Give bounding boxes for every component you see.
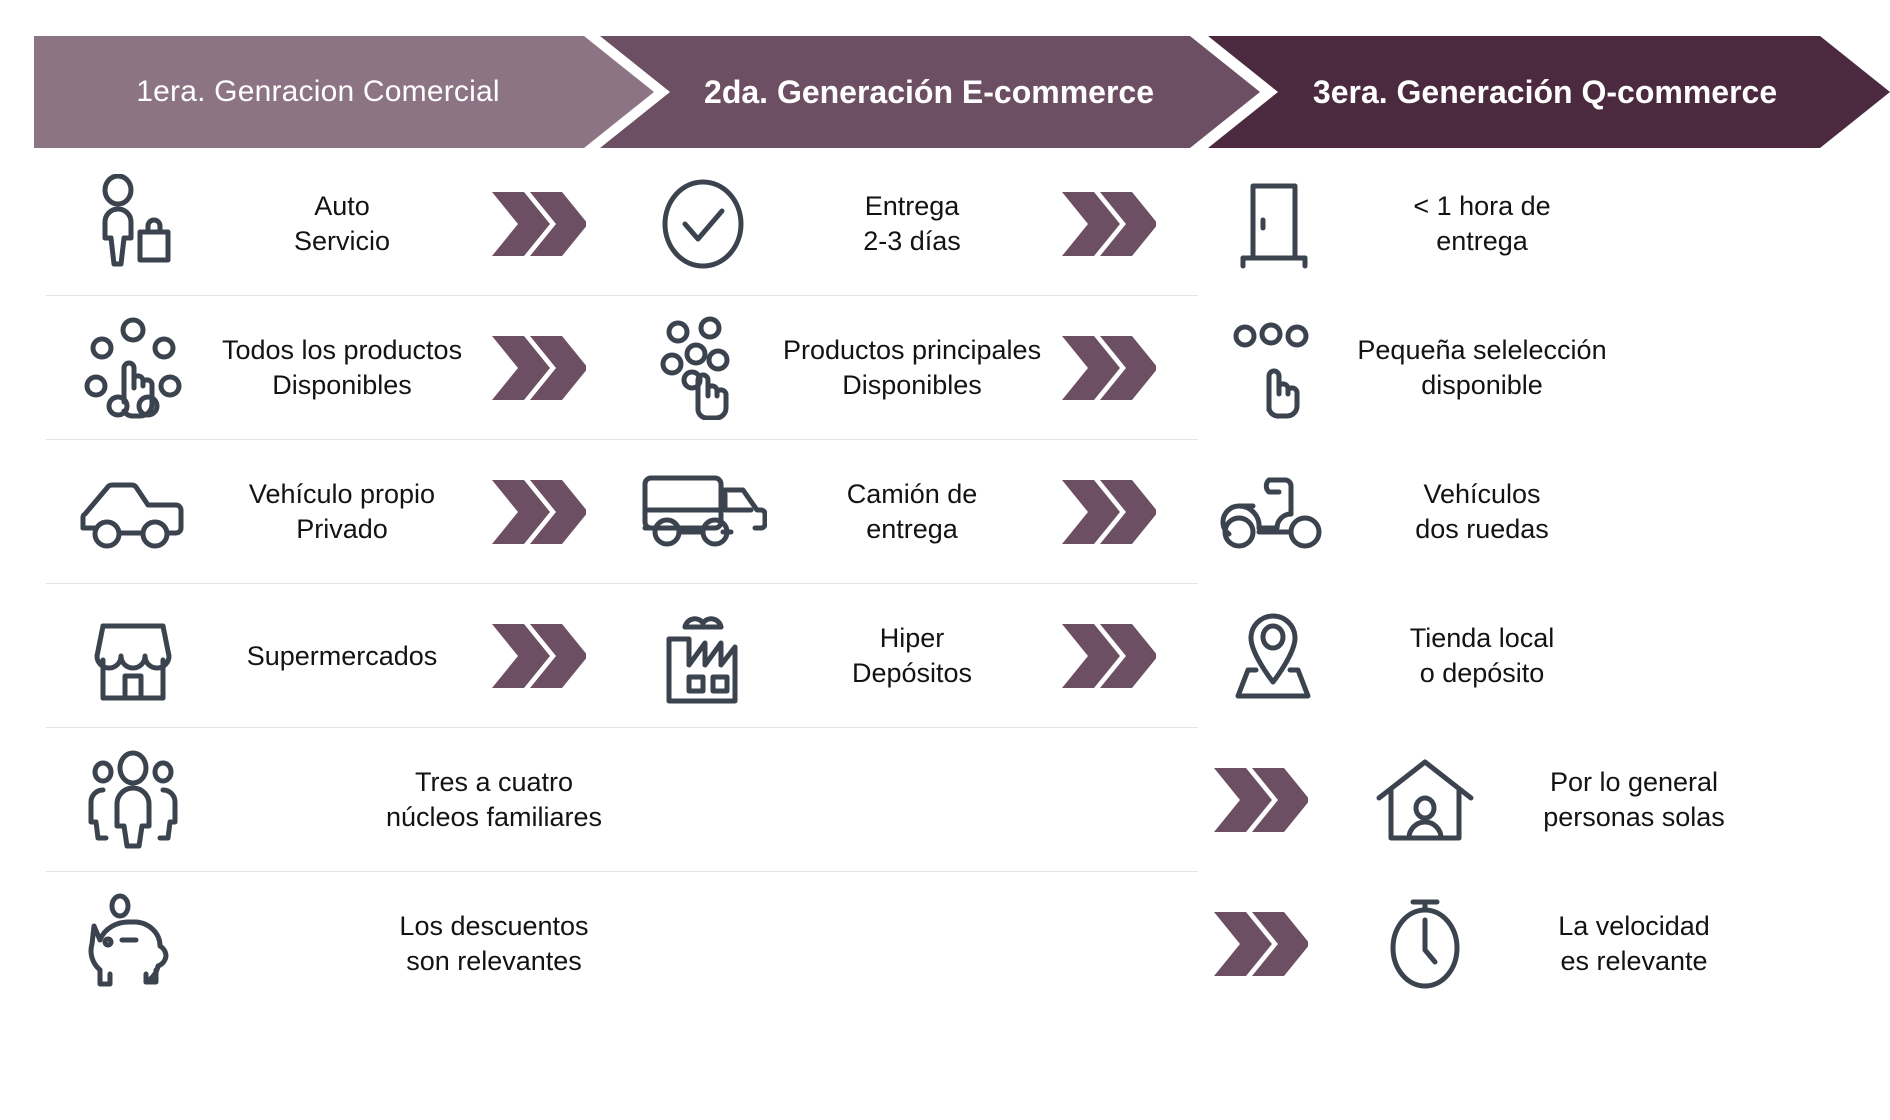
person-shopping-bag-icon [44,152,222,296]
double-chevron-icon [1032,440,1184,584]
generation-headers: 1era. Genracion Comercial 2da. Generació… [0,36,1890,148]
row-label-gen1: Los descuentos son relevantes [222,872,766,1016]
row-label-gen2: Camión de entrega [792,440,1032,584]
row-label-gen1: Todos los productos Disponibles [222,296,462,440]
header-banner-generation-1: 1era. Genracion Comercial [34,36,654,148]
storefront-icon [44,584,222,728]
row-label-gen3-line1: La velocidad [1558,909,1710,944]
row-label-gen2-line2: entrega [847,512,978,547]
table-row: Auto Servicio Entrega 2-3 días [0,152,1890,296]
double-chevron-icon [1184,728,1336,872]
row-label-gen1-line1: Vehículo propio [249,477,435,512]
row-label-gen1: Supermercados [222,584,462,728]
row-label-gen3: Tienda local o depósito [1362,584,1602,728]
double-chevron-icon [1032,296,1184,440]
row-label-gen2-line1: Entrega [863,189,961,224]
three-people-icon [44,728,222,872]
table-row: Vehículo propio Privado [0,440,1890,584]
row-label-gen1-line1: Supermercados [247,639,438,674]
row-label-gen1-line1: Todos los productos [222,333,462,368]
car-icon [44,440,222,584]
double-chevron-icon [462,296,614,440]
row-label-gen2-line2: Depósitos [852,656,972,691]
row-label-gen3-line2: disponible [1357,368,1606,403]
house-person-icon [1336,728,1514,872]
row-label-gen3-line2: o depósito [1410,656,1555,691]
row-label-gen3: Vehículos dos ruedas [1362,440,1602,584]
row-label-gen3-line1: Pequeña selelección [1357,333,1606,368]
check-circle-icon [614,152,792,296]
hand-pointer-bubbles-small-icon [614,296,792,440]
row-label-gen3-line1: < 1 hora de [1413,189,1550,224]
row-label-gen3-line1: Vehículos [1415,477,1549,512]
header-banner-generation-2: 2da. Generación E-commerce [600,36,1260,148]
row-label-gen3: La velocidad es relevante [1514,872,1754,1016]
row-label-gen2-line1: Productos principales [783,333,1041,368]
row-label-gen1-line1: Tres a cuatro [386,765,602,800]
comparison-grid: Auto Servicio Entrega 2-3 días [0,152,1890,1016]
row-label-gen2: Entrega 2-3 días [792,152,1032,296]
row-label-gen2: Hiper Depósitos [792,584,1032,728]
row-label-gen3-line1: Por lo general [1543,765,1725,800]
hand-pointer-three-bubbles-icon [1184,296,1362,440]
table-row: Todos los productos Disponibles [0,296,1890,440]
row-label-gen3-line2: dos ruedas [1415,512,1549,547]
table-row: Tres a cuatro núcleos familiares [0,728,1890,872]
double-chevron-icon [1184,872,1336,1016]
row-label-gen3: < 1 hora de entrega [1362,152,1602,296]
row-label-gen3: Pequeña selelección disponible [1362,296,1602,440]
infographic-page: 1era. Genracion Comercial 2da. Generació… [0,0,1890,1120]
map-pin-icon [1184,584,1362,728]
row-label-gen1-line2: Privado [249,512,435,547]
header-banner-generation-3: 3era. Generación Q-commerce [1208,36,1890,148]
row-label-gen3-line2: entrega [1413,224,1550,259]
row-label-gen1: Tres a cuatro núcleos familiares [222,728,766,872]
hand-pointer-bubbles-icon [44,296,222,440]
row-label-gen2-line2: Disponibles [783,368,1041,403]
row-label-gen3-line2: es relevante [1558,944,1710,979]
factory-icon [614,584,792,728]
header-banner-label-3: 3era. Generación Q-commerce [1273,76,1825,108]
double-chevron-icon [462,152,614,296]
double-chevron-icon [462,584,614,728]
row-label-gen1-line2: son relevantes [399,944,588,979]
table-row: Los descuentos son relevantes [0,872,1890,1016]
row-label-gen1-line1: Los descuentos [399,909,588,944]
row-label-gen1-line1: Auto [294,189,390,224]
row-label-gen1-line2: Disponibles [222,368,462,403]
table-row: Supermercados Hip [0,584,1890,728]
row-label-gen3-line2: personas solas [1543,800,1725,835]
row-label-gen2-line1: Camión de [847,477,978,512]
header-banner-label-1: 1era. Genracion Comercial [136,77,552,107]
stopwatch-icon [1336,872,1514,1016]
row-label-gen1-line2: Servicio [294,224,390,259]
double-chevron-icon [462,440,614,584]
double-chevron-icon [1032,152,1184,296]
double-chevron-icon [1032,584,1184,728]
row-label-gen3: Por lo general personas solas [1514,728,1754,872]
row-label-gen3-line1: Tienda local [1410,621,1555,656]
row-label-gen2-line2: 2-3 días [863,224,961,259]
scooter-icon [1184,440,1362,584]
row-label-gen2: Productos principales Disponibles [792,296,1032,440]
piggy-bank-icon [44,872,222,1016]
row-label-gen2-line1: Hiper [852,621,972,656]
row-label-gen1: Auto Servicio [222,152,462,296]
row-label-gen1-line2: núcleos familiares [386,800,602,835]
door-icon [1184,152,1362,296]
row-label-gen1: Vehículo propio Privado [222,440,462,584]
delivery-truck-icon [614,440,792,584]
header-banner-label-2: 2da. Generación E-commerce [664,76,1196,108]
